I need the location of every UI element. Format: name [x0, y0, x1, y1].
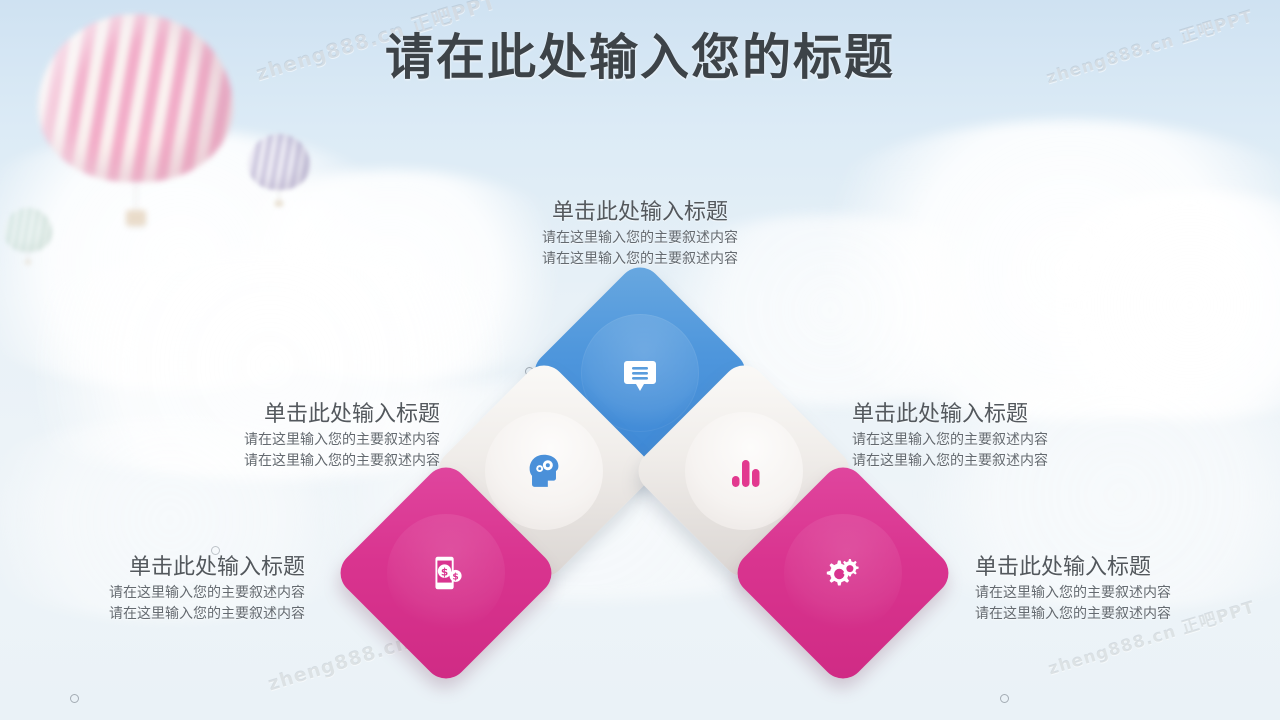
- text-block-right-mid: 单击此处输入标题 请在这里输入您的主要叙述内容 请在这里输入您的主要叙述内容: [852, 400, 1048, 472]
- node-heading: 单击此处输入标题: [542, 198, 738, 228]
- speech-bubble-icon: [616, 349, 664, 397]
- node-line: 请在这里输入您的主要叙述内容: [975, 583, 1171, 604]
- node-heading: 单击此处输入标题: [975, 553, 1171, 583]
- page-title: 请在此处输入您的标题: [0, 18, 1280, 89]
- node-heading: 单击此处输入标题: [109, 553, 305, 583]
- node-heading: 单击此处输入标题: [852, 400, 1048, 430]
- mobile-payment-icon: $ $: [423, 550, 469, 596]
- decorative-circle-icon: [70, 694, 79, 703]
- node-line: 请在这里输入您的主要叙述内容: [109, 583, 305, 604]
- hot-air-balloon-icon: [248, 134, 310, 206]
- node-line: 请在这里输入您的主要叙述内容: [852, 430, 1048, 451]
- node-line: 请在这里输入您的主要叙述内容: [244, 430, 440, 451]
- decorative-circle-icon: [1000, 694, 1009, 703]
- head-with-gears-icon: [521, 448, 567, 494]
- text-block-left-mid: 单击此处输入标题 请在这里输入您的主要叙述内容 请在这里输入您的主要叙述内容: [244, 400, 440, 472]
- text-block-bottom-right: 单击此处输入标题 请在这里输入您的主要叙述内容 请在这里输入您的主要叙述内容: [975, 553, 1171, 625]
- bar-chart-icon: [722, 449, 766, 493]
- node-heading: 单击此处输入标题: [244, 400, 440, 430]
- presentation-slide: zheng888.cn 正吧PPT zheng888.cn 正吧PPT zhen…: [0, 0, 1280, 720]
- node-line: 请在这里输入您的主要叙述内容: [244, 451, 440, 472]
- node-line: 请在这里输入您的主要叙述内容: [542, 249, 738, 270]
- gears-icon: [818, 548, 868, 598]
- svg-text:$: $: [441, 566, 448, 578]
- svg-text:$: $: [452, 573, 458, 583]
- text-block-bottom-left: 单击此处输入标题 请在这里输入您的主要叙述内容 请在这里输入您的主要叙述内容: [109, 553, 305, 625]
- hot-air-balloon-icon: [4, 208, 52, 264]
- text-block-top: 单击此处输入标题 请在这里输入您的主要叙述内容 请在这里输入您的主要叙述内容: [542, 198, 738, 270]
- node-line: 请在这里输入您的主要叙述内容: [109, 604, 305, 625]
- node-line: 请在这里输入您的主要叙述内容: [542, 228, 738, 249]
- node-line: 请在这里输入您的主要叙述内容: [975, 604, 1171, 625]
- node-line: 请在这里输入您的主要叙述内容: [852, 451, 1048, 472]
